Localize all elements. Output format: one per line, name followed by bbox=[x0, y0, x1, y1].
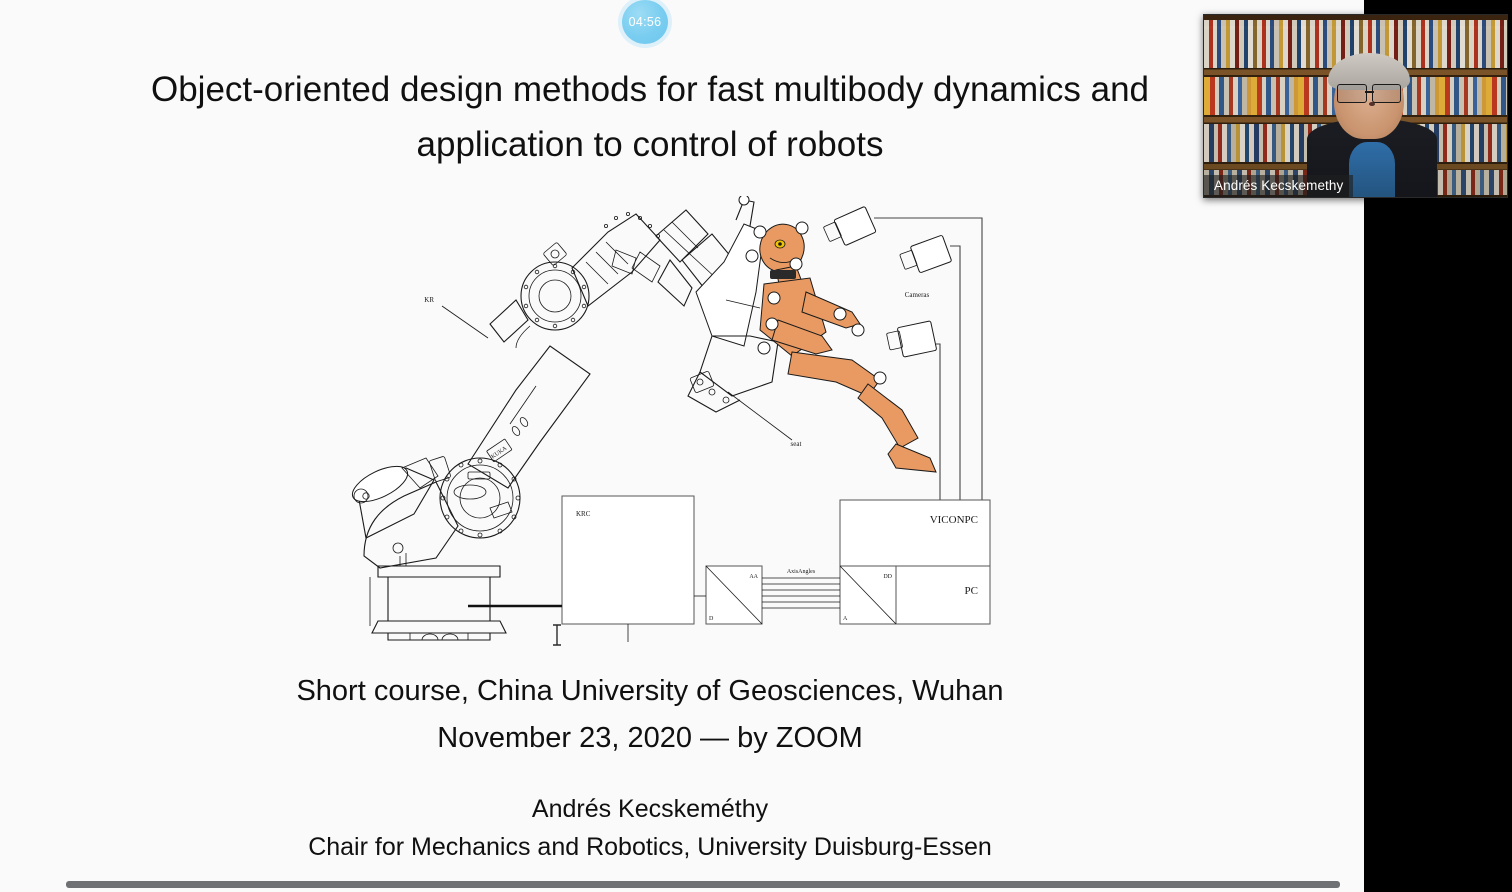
da-converter: AA D bbox=[706, 566, 762, 624]
robot-lower-arm bbox=[347, 456, 458, 568]
slide-figure: .ln{fill:none;stroke:#1a1a1a;stroke-widt… bbox=[340, 196, 1020, 646]
horizontal-scrollbar[interactable] bbox=[0, 876, 1364, 892]
axisangles-label: AxisAngles bbox=[787, 569, 816, 575]
course-and-date-text: Short course, China University of Geosci… bbox=[60, 668, 1240, 762]
robot-base bbox=[370, 543, 506, 640]
viconpc-label: VICONPC bbox=[930, 514, 978, 526]
pc-label: PC bbox=[965, 585, 978, 597]
slide-title: Object-oriented design methods for fast … bbox=[60, 62, 1240, 172]
eyeglasses-icon bbox=[1337, 84, 1401, 100]
viconpc-box: VICONPC bbox=[840, 500, 990, 566]
d-label: D bbox=[709, 616, 714, 622]
robot-joint-upper bbox=[490, 262, 589, 348]
a-label: A bbox=[843, 616, 848, 622]
author-and-affiliation-text: Andrés Kecskeméthy Chair for Mechanics a… bbox=[60, 790, 1240, 866]
robot-main-boom: KUKA bbox=[468, 346, 590, 488]
krc-label: KRC bbox=[576, 510, 591, 518]
axis-angle-bus: AxisAngles bbox=[762, 569, 840, 608]
aa-label: AA bbox=[749, 574, 758, 580]
vicon-cameras: Cameras bbox=[823, 206, 951, 357]
text-cursor-icon bbox=[551, 624, 563, 646]
robot-joint-lower bbox=[440, 458, 520, 538]
participant-name-label: Andrés Kecskemethy bbox=[1204, 175, 1353, 197]
ad-converter: DD A bbox=[840, 566, 896, 624]
robot-label: KR bbox=[424, 296, 434, 304]
cameras-label: Cameras bbox=[905, 291, 930, 299]
horizontal-scrollbar-thumb[interactable] bbox=[66, 881, 1340, 888]
seat-label: seat bbox=[791, 440, 802, 448]
dd-label: DD bbox=[883, 574, 892, 580]
robot-forearm bbox=[543, 212, 660, 306]
shared-slide-canvas: Object-oriented design methods for fast … bbox=[0, 0, 1364, 892]
robot-mocap-diagram: .ln{fill:none;stroke:#1a1a1a;stroke-widt… bbox=[340, 196, 1020, 646]
krc-cabinet: KRC bbox=[562, 496, 694, 624]
camera-3 bbox=[886, 321, 936, 357]
headrest-post bbox=[736, 196, 754, 226]
meeting-timer-badge[interactable]: 04:56 bbox=[622, 0, 668, 44]
participant-video-tile[interactable]: Andrés Kecskemethy bbox=[1203, 14, 1508, 198]
participant-shirt bbox=[1349, 142, 1394, 197]
camera-1 bbox=[823, 206, 876, 245]
camera-2 bbox=[900, 235, 952, 273]
meeting-timer-value: 04:56 bbox=[629, 15, 662, 29]
